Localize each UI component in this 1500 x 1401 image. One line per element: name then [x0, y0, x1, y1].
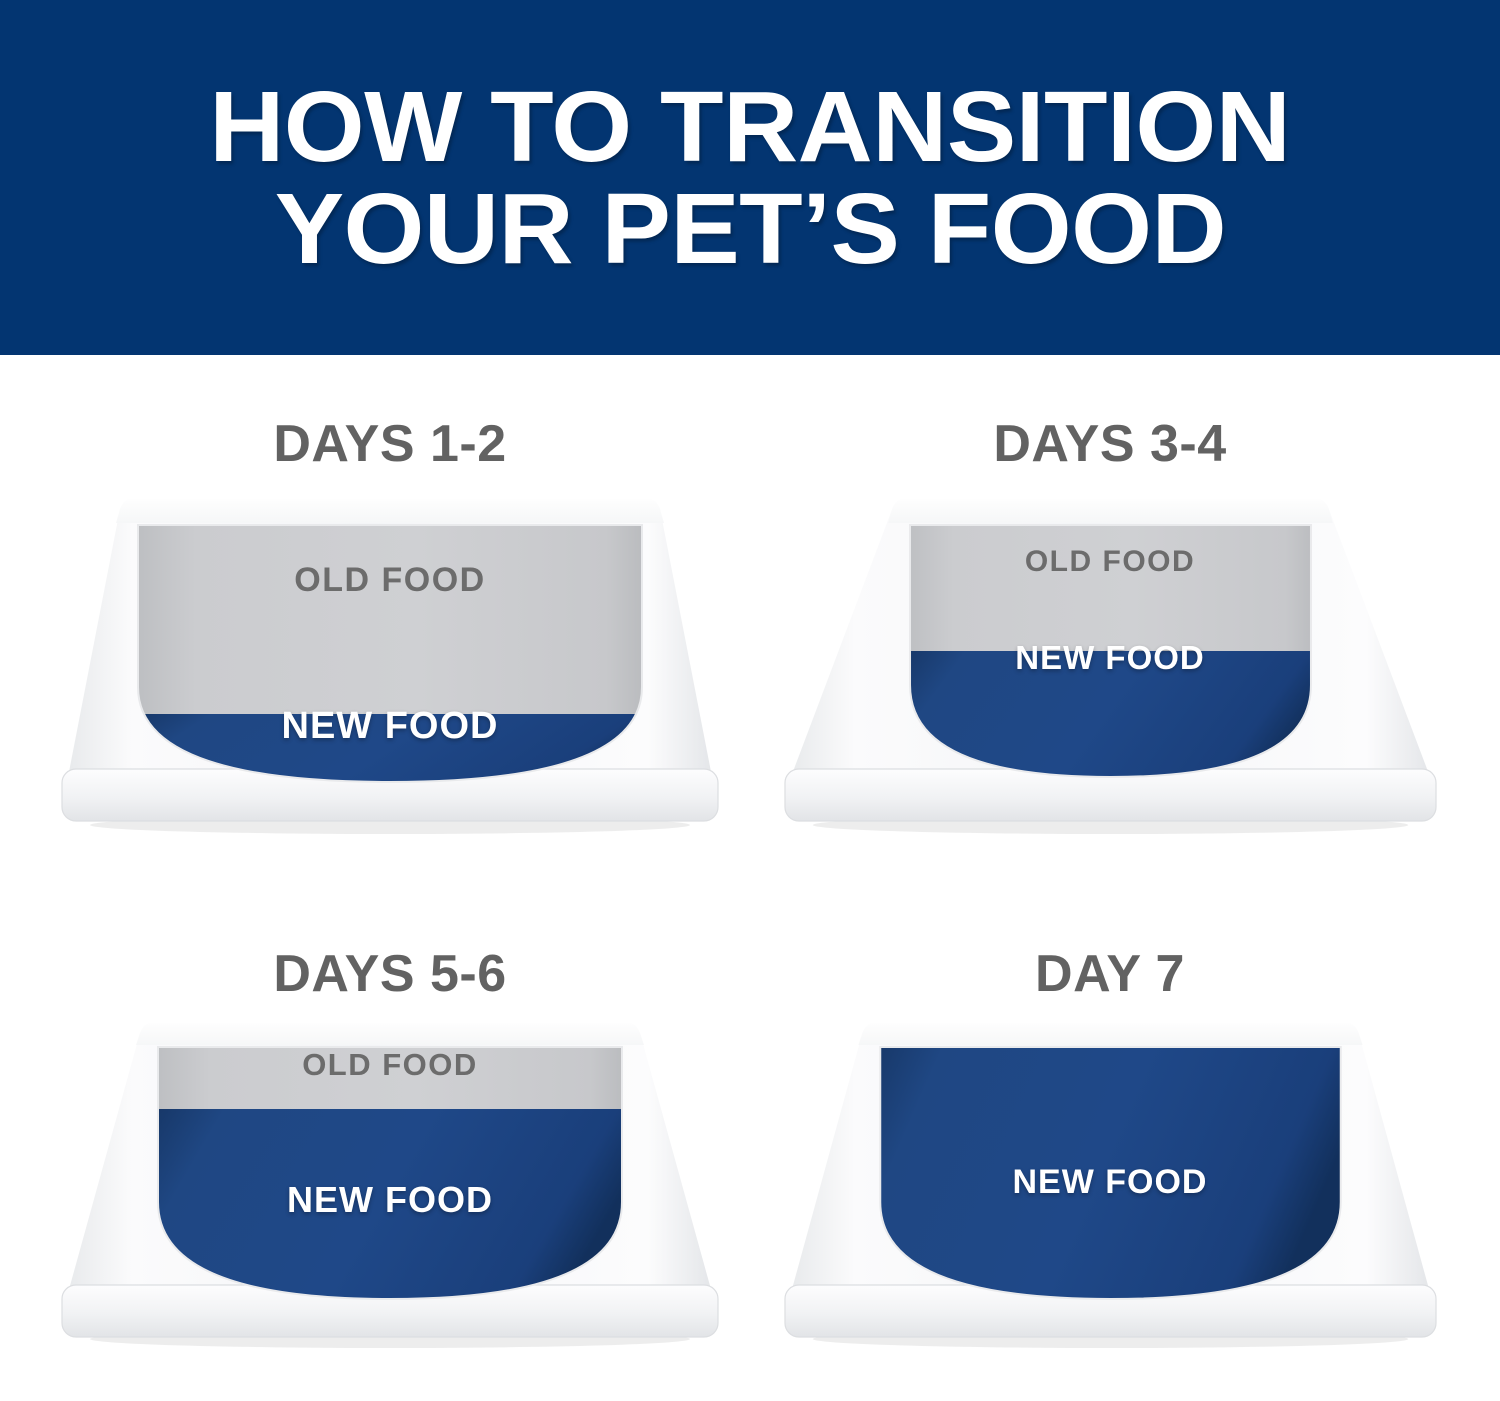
day-label-days-3-4: DAYS 3-4: [750, 415, 1470, 477]
bowls-grid: DAYS 1-2: [0, 355, 1500, 1401]
page-title-line-2: YOUR PET’S FOOD: [274, 178, 1225, 280]
bowl-svg-days-1-2: [60, 477, 720, 847]
bowl-svg-days-5-6: [60, 1007, 720, 1357]
bowl-card-days-3-4: DAYS 3-4: [750, 415, 1470, 870]
bowl-card-days-5-6: DAYS 5-6: [30, 945, 750, 1385]
page-title-line-1: HOW TO TRANSITION: [209, 76, 1290, 178]
bowl-rim: [888, 499, 1333, 523]
day-label-days-1-2: DAYS 1-2: [30, 415, 750, 477]
bowl-rim: [858, 1023, 1362, 1045]
bowl-rim: [116, 499, 664, 523]
bowl-svg-days-3-4: [783, 477, 1438, 847]
pet-bowl-illustration-days-3-4: OLD FOOD NEW FOOD: [783, 477, 1438, 847]
bowl-svg-day-7: [783, 1007, 1438, 1357]
day-label-days-5-6: DAYS 5-6: [30, 945, 750, 1007]
bowl-rim: [136, 1023, 644, 1045]
pet-bowl-illustration-days-1-2: OLD FOOD NEW FOOD: [60, 477, 720, 847]
bowl-card-days-1-2: DAYS 1-2: [30, 415, 750, 870]
day-label-day-7: DAY 7: [750, 945, 1470, 1007]
pet-bowl-illustration-day-7: NEW FOOD: [783, 1007, 1438, 1357]
pet-bowl-illustration-days-5-6: OLD FOOD NEW FOOD: [60, 1007, 720, 1357]
header-banner: HOW TO TRANSITION YOUR PET’S FOOD: [0, 0, 1500, 355]
bowl-card-day-7: DAY 7: [750, 945, 1470, 1385]
